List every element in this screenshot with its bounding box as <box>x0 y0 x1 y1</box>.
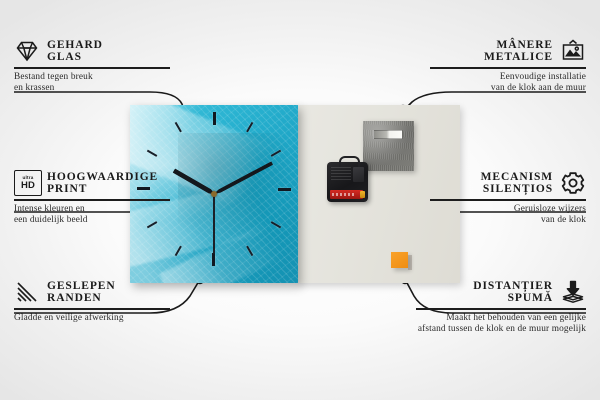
gear-icon <box>560 170 586 196</box>
feature-divider <box>416 308 586 310</box>
feature-desc-line1: Eenvoudige installatie <box>500 72 586 82</box>
feature-hoogwaardige-print: ultraHD HOOGWAARDIGE PRINT Intense kleur… <box>14 170 170 226</box>
feature-title-line2: PRINT <box>47 183 87 195</box>
silent-clock-mechanism <box>327 162 368 202</box>
feature-gehard-glas: GEHARD GLAS Bestand tegen breuk en krass… <box>14 38 170 94</box>
clock-pivot <box>211 191 217 197</box>
feature-mecanism-silentios: MECANISM SILENȚIOS Geruisloze wijzers va… <box>430 170 586 226</box>
feature-title-line2: SILENȚIOS <box>483 183 553 195</box>
feature-title-line2: RANDEN <box>47 292 102 304</box>
feature-desc-line2: van de klok <box>541 215 586 225</box>
clock-tick <box>213 105 215 189</box>
feature-geslepen-randen: GESLEPEN RANDEN Gladde en veilige afwerk… <box>14 279 170 324</box>
feature-title-line1: MÂNERE <box>496 39 553 51</box>
feature-title-line1: HOOGWAARDIGE <box>47 171 158 183</box>
feature-divider <box>14 308 170 310</box>
feature-desc-line1: Bestand tegen breuk <box>14 72 93 82</box>
feature-divider <box>430 199 586 201</box>
feature-title-line1: GEHARD <box>47 39 103 51</box>
feature-desc-line1: Geruisloze wijzers <box>514 204 586 214</box>
orange-foam-spacer <box>391 252 408 268</box>
feature-title-line1: DISTANȚIER <box>473 280 553 292</box>
infographic-canvas: GEHARD GLAS Bestand tegen breuk en krass… <box>0 0 600 400</box>
feature-title-line2: GLAS <box>47 51 82 63</box>
feature-title-line1: MECANISM <box>481 171 553 183</box>
feature-desc-line1: Maakt het behouden van een gelijke <box>446 313 586 323</box>
feature-desc-line1: Intense kleuren en <box>14 204 85 214</box>
mechanism-module <box>353 167 364 182</box>
feature-divider <box>430 67 586 69</box>
feature-divider <box>14 199 170 201</box>
hanger-strip <box>373 130 403 139</box>
diamond-icon <box>14 38 40 64</box>
feature-distantier-spuma: DISTANȚIER SPUMĂ Maakt het behouden van … <box>416 279 586 335</box>
feature-desc-line2: een duidelijk beeld <box>14 215 88 225</box>
ultra-hd-icon: ultraHD <box>14 170 40 196</box>
feature-desc-line2: afstand tussen de klok en de muur mogeli… <box>418 324 586 334</box>
aa-battery <box>330 190 363 199</box>
mechanism-hanging-loop <box>339 156 360 167</box>
beveled-edge-icon <box>14 279 40 305</box>
feature-divider <box>14 67 170 69</box>
feature-title-line2: SPUMĂ <box>508 292 553 304</box>
feature-title-line1: GESLEPEN <box>47 280 116 292</box>
feature-desc-line2: van de klok aan de muur <box>491 83 586 93</box>
mechanism-grill <box>331 167 351 181</box>
arrow-onto-layer-icon <box>560 279 586 305</box>
metal-hanger-plate <box>363 121 414 171</box>
feature-title-line2: METALICE <box>484 51 553 63</box>
product-photo <box>130 105 460 285</box>
feature-desc-line1: Gladde en veilige afwerking <box>14 313 124 323</box>
feature-desc-line2: en krassen <box>14 83 54 93</box>
framed-picture-hook-icon <box>560 38 586 64</box>
clock-second-hand <box>213 194 215 254</box>
feature-manere-metalice: MÂNERE METALICE Eenvoudige installatie v… <box>430 38 586 94</box>
